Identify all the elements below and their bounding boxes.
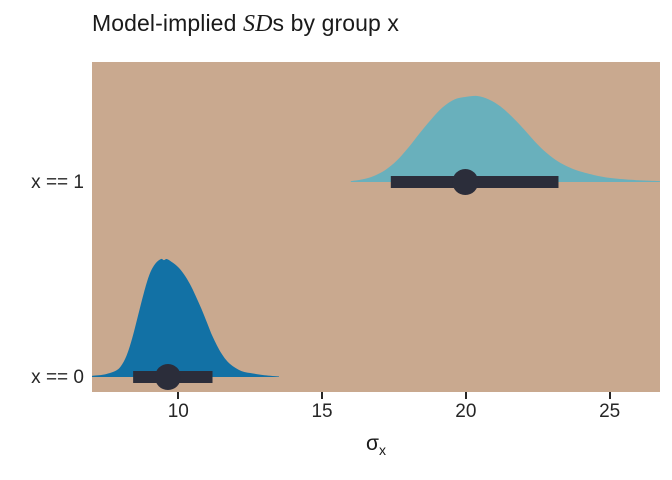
y-tick-label-x0: x == 0: [31, 367, 84, 389]
x-axis-title-symbol: σ: [366, 432, 379, 455]
density-group-x0: [92, 259, 279, 390]
x-tick-15: [321, 392, 323, 399]
chart-figure: Model-implied SDs by group x x == 1 x ==…: [0, 0, 672, 480]
plot-panel: [92, 62, 660, 392]
x-axis: 10152025: [92, 392, 660, 432]
x-tick-label-20: 20: [455, 401, 476, 423]
x-tick-20: [465, 392, 467, 399]
x-axis-title-subscript: x: [379, 442, 386, 458]
title-trail: s by group x: [273, 10, 400, 36]
density-area-x1: [351, 96, 660, 182]
x-tick-25: [609, 392, 611, 399]
title-lead: Model-implied: [92, 10, 243, 36]
point-estimate-dot-x0: [155, 364, 181, 390]
density-area-x0: [92, 259, 279, 377]
x-tick-label-10: 10: [168, 401, 189, 423]
point-estimate-dot-x1: [452, 169, 478, 195]
x-tick-10: [177, 392, 179, 399]
x-tick-label-15: 15: [311, 401, 332, 423]
x-tick-label-25: 25: [599, 401, 620, 423]
y-axis: x == 1 x == 0: [0, 62, 84, 392]
title-emphasis: SD: [243, 11, 273, 37]
page-title: Model-implied SDs by group x: [92, 10, 660, 38]
density-plot-svg: [92, 62, 660, 392]
density-group-x1: [351, 96, 660, 195]
y-tick-label-x1: x == 1: [31, 172, 84, 194]
x-axis-title: σx: [92, 432, 660, 458]
